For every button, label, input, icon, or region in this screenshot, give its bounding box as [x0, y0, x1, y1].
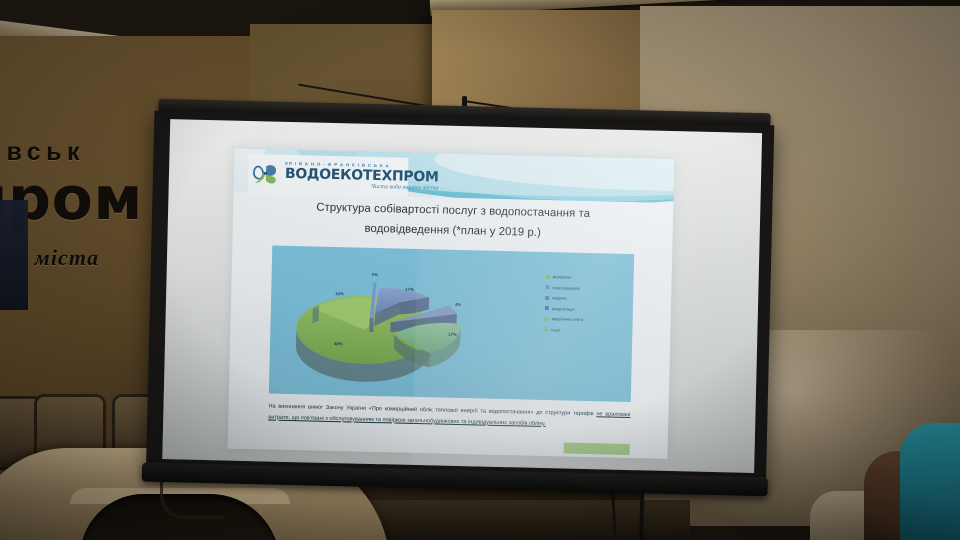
slide-accent-bar [564, 442, 630, 455]
pie-slice-label-top-right: 17% [405, 287, 414, 292]
legend-swatch-icon [546, 275, 550, 279]
conference-room: івськ пром вого міста [0, 0, 960, 540]
screen-surface: КП І В А Н О - Ф Р А Н К І В С Ь К А ВОД… [162, 119, 762, 473]
legend-item: амортизація [545, 306, 627, 313]
legend-label: електроенергія [552, 285, 580, 291]
legend-swatch-icon [544, 327, 548, 331]
legend-item: виробнича плата [545, 316, 627, 323]
slide-title: Структура собівартості послуг з водопост… [259, 197, 648, 246]
butterfly-water-drop-logo-icon [252, 159, 283, 190]
wall-sign-line-1: івськ [0, 138, 85, 167]
company-logo: КП І В А Н О - Ф Р А Н К І В С Ь К А ВОД… [248, 154, 409, 198]
pie-slice-label-bottom-left: 48% [334, 341, 343, 346]
legend-label: виробнича плата [552, 317, 583, 323]
person-torso [900, 423, 960, 540]
wall-panel [0, 200, 28, 310]
slide-footnote: На виконання вимог Закону України «Про к… [268, 402, 630, 432]
pie-chart: 12% 17% 2% 4% 17% 48% матеріали [269, 246, 634, 402]
logo-wordmark: ВОДОЕКОТЕХПРОМ [285, 166, 439, 184]
pie-slice-label-right-upper: 4% [455, 302, 461, 307]
seated-person [844, 398, 960, 540]
legend-item: матеріали [546, 274, 628, 281]
photo-scene: івськ пром вого міста [0, 0, 960, 540]
legend-label: амортизація [552, 306, 575, 312]
legend-label: інше [551, 327, 560, 332]
logo-text: КП І В А Н О - Ф Р А Н К І В С Ь К А ВОД… [285, 162, 439, 191]
screen-frame: КП І В А Н О - Ф Р А Н К І В С Ь К А ВОД… [146, 111, 774, 482]
legend-swatch-icon [545, 306, 549, 310]
pie-slice-label-right-lower: 17% [448, 332, 457, 337]
presentation-slide: КП І В А Н О - Ф Р А Н К І В С Ь К А ВОД… [228, 149, 675, 459]
legend-swatch-icon [545, 285, 549, 289]
legend-item: електроенергія [545, 285, 627, 292]
legend-swatch-icon [545, 317, 549, 321]
legend-label: податки [552, 295, 567, 300]
pie-slice-label-apex: 2% [372, 272, 378, 277]
legend-item: податки [545, 295, 627, 302]
legend-label: матеріали [553, 274, 572, 279]
legend-swatch-icon [545, 296, 549, 300]
legend-item: інше [544, 327, 626, 334]
pie-slice-label-top-left: 12% [335, 291, 344, 296]
projector-screen: КП І В А Н О - Ф Р А Н К І В С Ь К А ВОД… [146, 111, 775, 498]
pie-graphic: 12% 17% 2% 4% 17% 48% [277, 250, 530, 398]
chart-legend: матеріали електроенергія податки [544, 274, 627, 339]
